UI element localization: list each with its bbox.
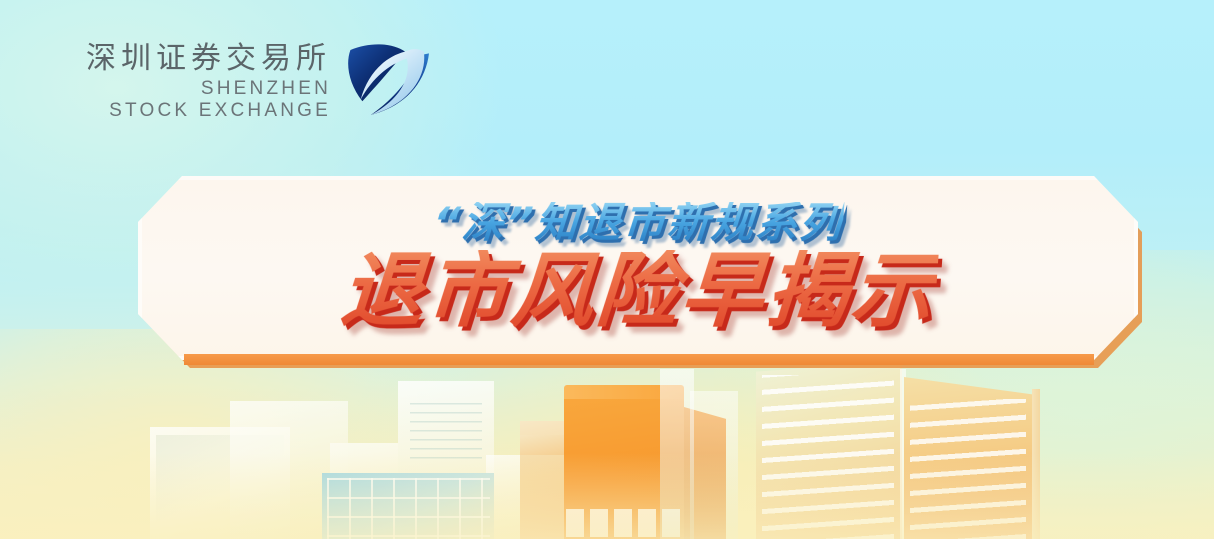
title-plaque: “深”知退市新规系列 退市风险早揭示: [138, 176, 1148, 366]
skyline-haze-overlay: [0, 453, 1214, 539]
building-orange-tower-step: [520, 435, 564, 455]
title-block: “深”知退市新规系列 退市风险早揭示: [138, 176, 1138, 360]
banner-subtitle: “深”知退市新规系列: [431, 202, 844, 244]
city-skyline-illustration: [0, 349, 1214, 539]
logo-name-cn: 深圳证券交易所: [86, 44, 331, 74]
banner-canvas: 深圳证券交易所 SHENZHEN STOCK EXCHANGE: [0, 0, 1214, 539]
logo-wordmark: 深圳证券交易所 SHENZHEN STOCK EXCHANGE: [86, 44, 331, 120]
logo-name-en-line1: SHENZHEN: [201, 79, 331, 98]
szse-logo: 深圳证券交易所 SHENZHEN STOCK EXCHANGE: [86, 44, 431, 120]
szse-leaf-logo-icon: [345, 38, 431, 120]
banner-title: 退市风险早揭示: [338, 250, 939, 334]
logo-name-en-line2: STOCK EXCHANGE: [109, 101, 331, 120]
